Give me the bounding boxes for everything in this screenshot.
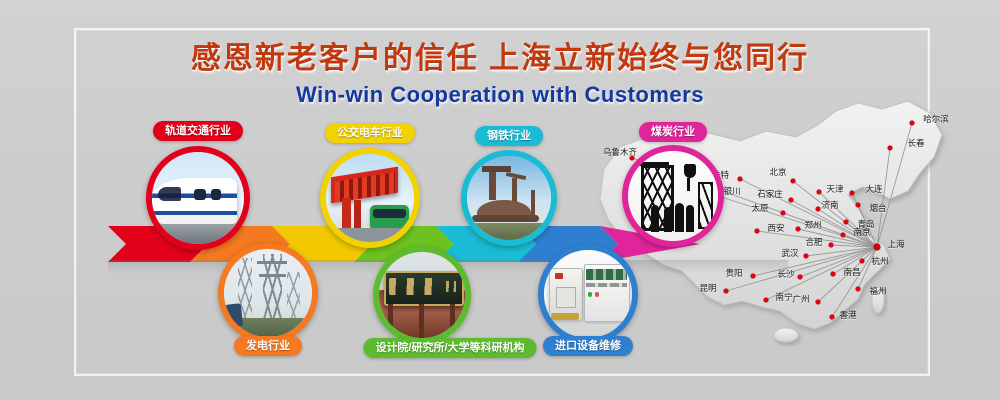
map-city-label: 合肥 [805, 236, 822, 248]
map-city-dot [798, 275, 803, 280]
map-city-label: 南京 [853, 226, 870, 238]
map-city-label: 昆明 [699, 282, 716, 294]
map-city-dot [789, 198, 794, 203]
map-city-label: 太原 [751, 202, 768, 214]
map-city-dot [751, 274, 756, 279]
industry-image-china-pavilion-bus [326, 154, 414, 242]
industry-photo-research[interactable] [373, 246, 471, 344]
banner-heading-group: 感恩新老客户的信任 上海立新始终与您同行 Win-win Cooperation… [0, 42, 1000, 108]
industry-photo-bus[interactable] [320, 148, 420, 248]
industry-image-coal-mine-derrick [628, 151, 718, 241]
map-city-dot [831, 272, 836, 277]
industry-image-switchgear-cabinets [544, 250, 632, 338]
industry-label-research[interactable]: 设计院/研究所/大学等科研机构 [363, 338, 536, 358]
map-city-dot [844, 220, 849, 225]
map-city-dot [804, 254, 809, 259]
map-city-dot [791, 179, 796, 184]
map-city-dot [816, 207, 821, 212]
headline-chinese: 感恩新老客户的信任 上海立新始终与您同行 [0, 42, 1000, 75]
headline-english: Win-win Cooperation with Customers [0, 82, 1000, 108]
map-city-dot [724, 289, 729, 294]
map-city-label: 福州 [869, 285, 886, 297]
map-city-dot [856, 203, 861, 208]
industry-photo-steel[interactable] [461, 150, 557, 246]
map-city-label: 济南 [821, 199, 838, 211]
map-city-label: 南昌 [843, 266, 860, 278]
industry-image-steel-blast-furnace [467, 156, 551, 240]
promo-banner: 哈尔滨长春乌鲁木齐呼和浩特北京天津大连银川石家庄济南烟台太原青岛郑州西安南京合肥… [0, 0, 1000, 400]
map-city-dot [841, 233, 846, 238]
map-city-dot [856, 287, 861, 292]
map-city-dot [738, 177, 743, 182]
map-city-dot [781, 211, 786, 216]
industry-image-power-transmission-towers [224, 249, 312, 337]
map-city-label: 广州 [792, 293, 809, 305]
map-city-label: 烟台 [869, 202, 886, 214]
map-city-label: 香港 [839, 309, 856, 321]
map-city-label: 石家庄 [757, 188, 783, 200]
industry-photo-power[interactable] [218, 243, 318, 343]
map-city-label: 杭州 [871, 255, 888, 267]
map-city-label: 哈尔滨 [923, 113, 949, 125]
industry-photo-coal[interactable] [622, 145, 724, 247]
industry-label-bus[interactable]: 公交电车行业 [325, 123, 415, 143]
map-city-label: 郑州 [804, 219, 821, 231]
map-city-label: 南宁 [775, 291, 792, 303]
industry-label-steel[interactable]: 钢铁行业 [475, 126, 543, 146]
industry-label-imported[interactable]: 进口设备维修 [543, 336, 633, 356]
industry-label-power[interactable]: 发电行业 [234, 336, 302, 356]
map-city-dot [850, 191, 855, 196]
map-city-dot [830, 315, 835, 320]
map-city-dot [816, 300, 821, 305]
map-city-dot [888, 146, 893, 151]
industry-photo-rail[interactable] [146, 146, 250, 250]
map-city-label: 银川 [723, 185, 740, 197]
map-city-dot [874, 244, 881, 251]
map-city-dot [796, 227, 801, 232]
map-city-label: 天津 [826, 183, 843, 195]
map-city-label: 北京 [769, 166, 786, 178]
industry-label-rail[interactable]: 轨道交通行业 [153, 121, 243, 141]
map-city-dot [817, 190, 822, 195]
map-city-label: 长春 [907, 137, 924, 149]
industry-label-coal[interactable]: 煤炭行业 [639, 122, 707, 142]
industry-photo-imported[interactable] [538, 244, 638, 344]
map-city-label: 大连 [865, 183, 882, 195]
map-city-dot [910, 121, 915, 126]
map-city-label: 上海 [887, 238, 904, 250]
map-city-dot [829, 243, 834, 248]
industry-image-university-plaque [379, 252, 465, 338]
map-city-dot [764, 298, 769, 303]
map-city-dot [860, 259, 865, 264]
industry-image-high-speed-train [152, 152, 244, 244]
